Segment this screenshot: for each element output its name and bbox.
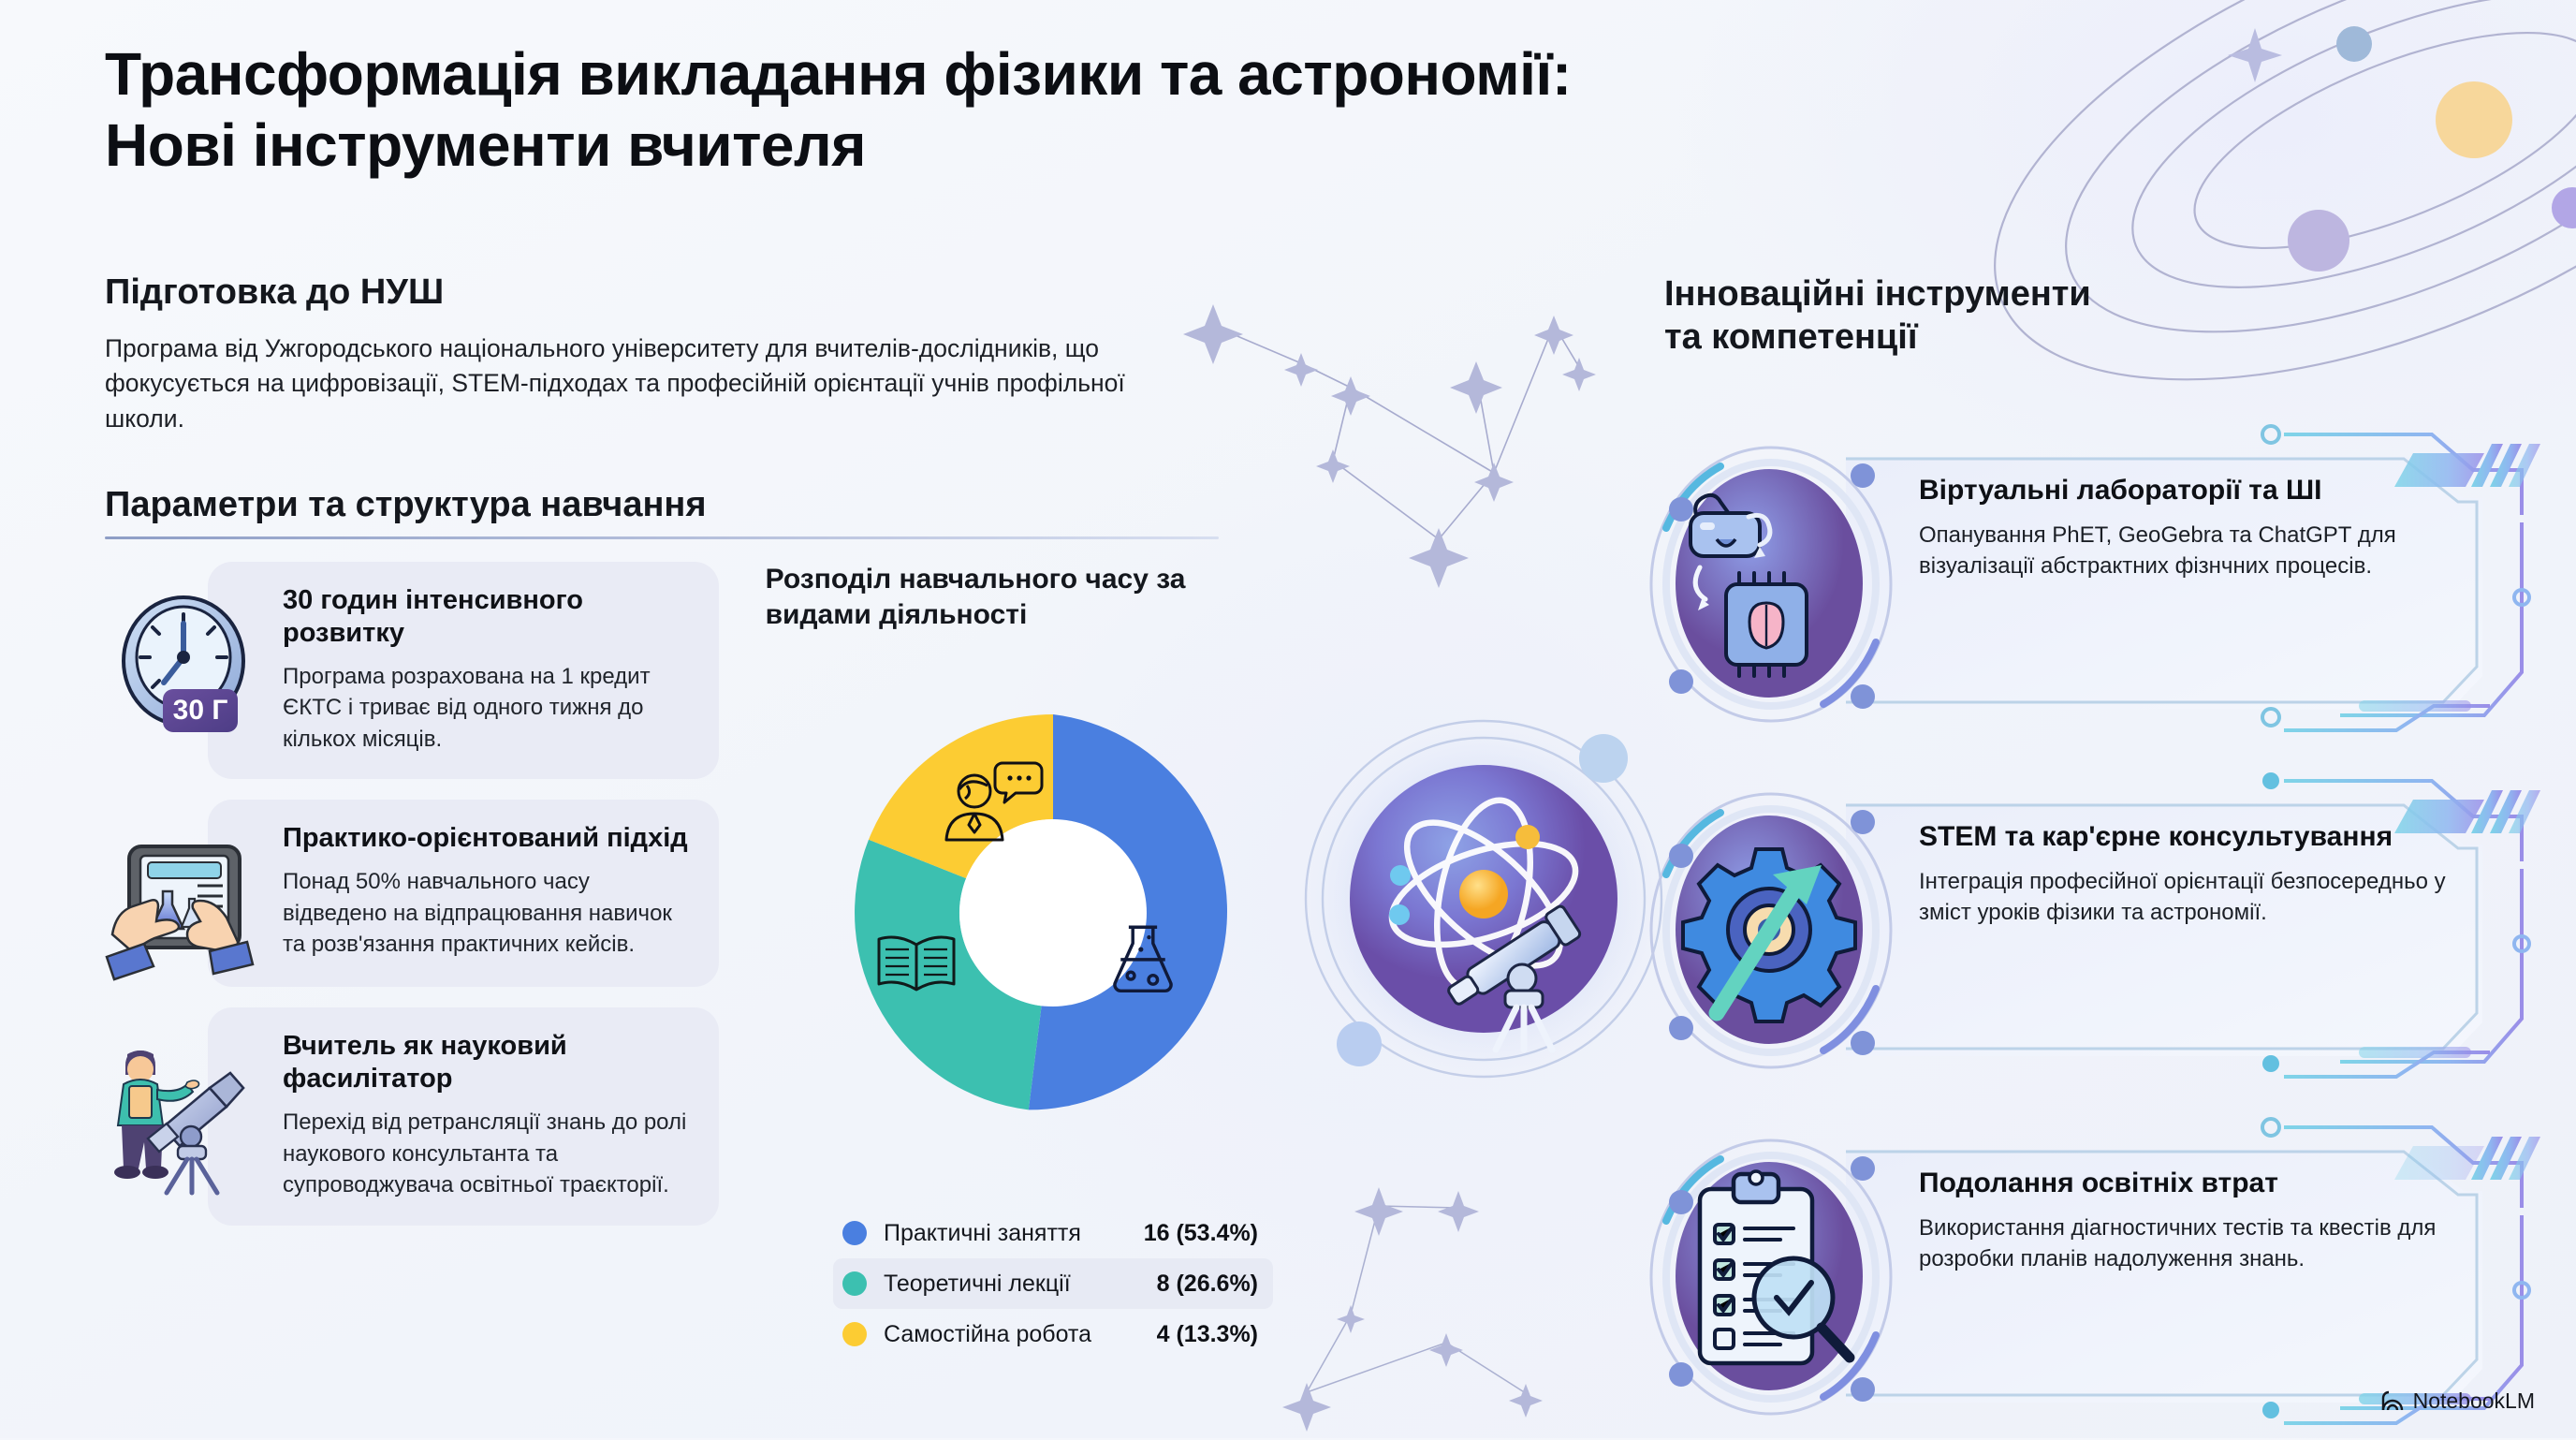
constellation-top [1213, 325, 1579, 539]
checklist-magnifier-icon [1657, 1146, 1881, 1406]
infographic-page: Трансформація викладання фізики та астро… [0, 0, 2576, 1438]
planet-yellow [2436, 81, 2512, 158]
feature-card-hours-panel: 30 годин інтенсивного розвитку Програма … [208, 562, 719, 779]
sparkle-top [2228, 28, 2282, 82]
left-intro-block: Підготовка до НУШ Програма від Ужгородсь… [105, 272, 1256, 539]
right-section-heading: Інноваційні інструменти та компетенції [1664, 273, 2320, 359]
legend-swatch-practical [842, 1221, 867, 1245]
planet-violet [2552, 187, 2576, 228]
constellation-bottom-stars [1282, 1187, 1543, 1432]
tech-card-learning-loss-text: Подолання освітніх втрат Використання ді… [1919, 1167, 2499, 1274]
legend-label-practical: Практичні заняття [884, 1220, 1144, 1247]
clock-icon: 30 Г [105, 586, 270, 751]
vr-headset-ai-chip-icon [1657, 453, 1881, 713]
tech-card-virtual-labs-desc: Опанування PhET, GeoGebra та ChatGPT для… [1919, 520, 2499, 581]
feature-card-facilitator-text: Перехід від ретрансляції знань до ролі н… [283, 1107, 691, 1201]
feature-card-hours[interactable]: 30 Г 30 годин інтенсивного розвитку Прог… [105, 562, 719, 779]
chart-title: Розподіл навчального часу за видами діял… [766, 562, 1215, 632]
feature-card-facilitator[interactable]: Вчитель як науковий фасилітатор Перехід … [105, 1007, 719, 1225]
gear-growth-arrow-icon [1657, 800, 1881, 1060]
legend-value-independent: 4 (13.3%) [1157, 1321, 1258, 1348]
tech-card-stem-career[interactable]: STEM та кар'єрне консультування Інтеграц… [1629, 766, 2546, 1094]
teacher-telescope-icon [105, 1032, 270, 1197]
legend-label-independent: Самостійна робота [884, 1321, 1157, 1348]
feature-card-practice-panel: Практико-орієнтований підхід Понад 50% н… [208, 800, 719, 987]
legend-row-practical[interactable]: Практичні заняття 16 (53.4%) [833, 1208, 1273, 1258]
tech-card-stem-career-title: STEM та кар'єрне консультування [1919, 820, 2499, 854]
constellation-bottom [1307, 1206, 1526, 1393]
notebooklm-watermark: NotebookLM [2380, 1389, 2535, 1414]
donut-svg [847, 707, 1259, 1119]
section-divider [105, 536, 1219, 539]
legend-value-theoretical: 8 (26.6%) [1157, 1271, 1258, 1298]
right-heading-line-1: Інноваційні інструменти [1664, 273, 2320, 316]
right-heading-line-2: та компетенції [1664, 316, 2320, 360]
page-title-line-2: Нові інструменти вчителя [105, 110, 1790, 182]
feature-card-facilitator-title: Вчитель як науковий фасилітатор [283, 1030, 691, 1095]
atom-telescope-icon [1292, 707, 1676, 1091]
tech-card-virtual-labs-text: Віртуальні лабораторії та ШІ Опанування … [1919, 474, 2499, 581]
orbit-system-top-right [1929, 0, 2576, 478]
feature-card-list: 30 Г 30 годин інтенсивного розвитку Прог… [105, 562, 719, 1226]
section-heading-parameters: Параметри та структура навчання [105, 485, 1256, 525]
planet-purple [2288, 210, 2349, 272]
page-title: Трансформація викладання фізики та астро… [105, 39, 1790, 181]
hours-badge-label: 30 Г [173, 695, 228, 726]
legend-row-theoretical[interactable]: Теоретичні лекції 8 (26.6%) [833, 1258, 1273, 1309]
feature-card-facilitator-panel: Вчитель як науковий фасилітатор Перехід … [208, 1007, 719, 1225]
chart-legend: Практичні заняття 16 (53.4%) Теоретичні … [833, 1208, 1273, 1359]
activity-donut-chart [847, 707, 1259, 1119]
tech-card-virtual-labs-title: Віртуальні лабораторії та ШІ [1919, 474, 2499, 507]
feature-card-practice-title: Практико-орієнтований підхід [283, 822, 691, 855]
notebooklm-label: NotebookLM [2413, 1389, 2535, 1414]
legend-row-independent[interactable]: Самостійна робота 4 (13.3%) [833, 1309, 1273, 1359]
tech-card-list: Віртуальні лабораторії та ШІ Опанування … [1629, 419, 2546, 1440]
legend-value-practical: 16 (53.4%) [1144, 1220, 1258, 1247]
tech-card-stem-career-text: STEM та кар'єрне консультування Інтеграц… [1919, 820, 2499, 928]
tech-card-virtual-labs[interactable]: Віртуальні лабораторії та ШІ Опанування … [1629, 419, 2546, 747]
notebooklm-icon [2380, 1389, 2405, 1414]
feature-card-practice[interactable]: Практико-орієнтований підхід Понад 50% н… [105, 800, 719, 987]
tech-card-stem-career-desc: Інтеграція професійної орієнтації безпос… [1919, 866, 2499, 928]
intro-paragraph: Програма від Ужгородського національного… [105, 331, 1144, 437]
feature-card-hours-text: Програма розрахована на 1 кредит ЄКТС і … [283, 661, 691, 756]
tablet-hands-icon [105, 824, 270, 989]
legend-swatch-independent [842, 1322, 867, 1346]
page-title-line-1: Трансформація викладання фізики та астро… [105, 39, 1790, 110]
tech-card-learning-loss-desc: Використання діагностичних тестів та кве… [1919, 1212, 2499, 1274]
feature-card-hours-title: 30 годин інтенсивного розвитку [283, 584, 691, 650]
feature-card-practice-text: Понад 50% навчального часу відведено на … [283, 866, 691, 961]
tech-card-learning-loss-title: Подолання освітніх втрат [1919, 1167, 2499, 1200]
legend-label-theoretical: Теоретичні лекції [884, 1271, 1157, 1298]
section-heading-preparation: Підготовка до НУШ [105, 272, 1256, 315]
legend-swatch-theoretical [842, 1271, 867, 1296]
planet-blue [2336, 26, 2372, 62]
